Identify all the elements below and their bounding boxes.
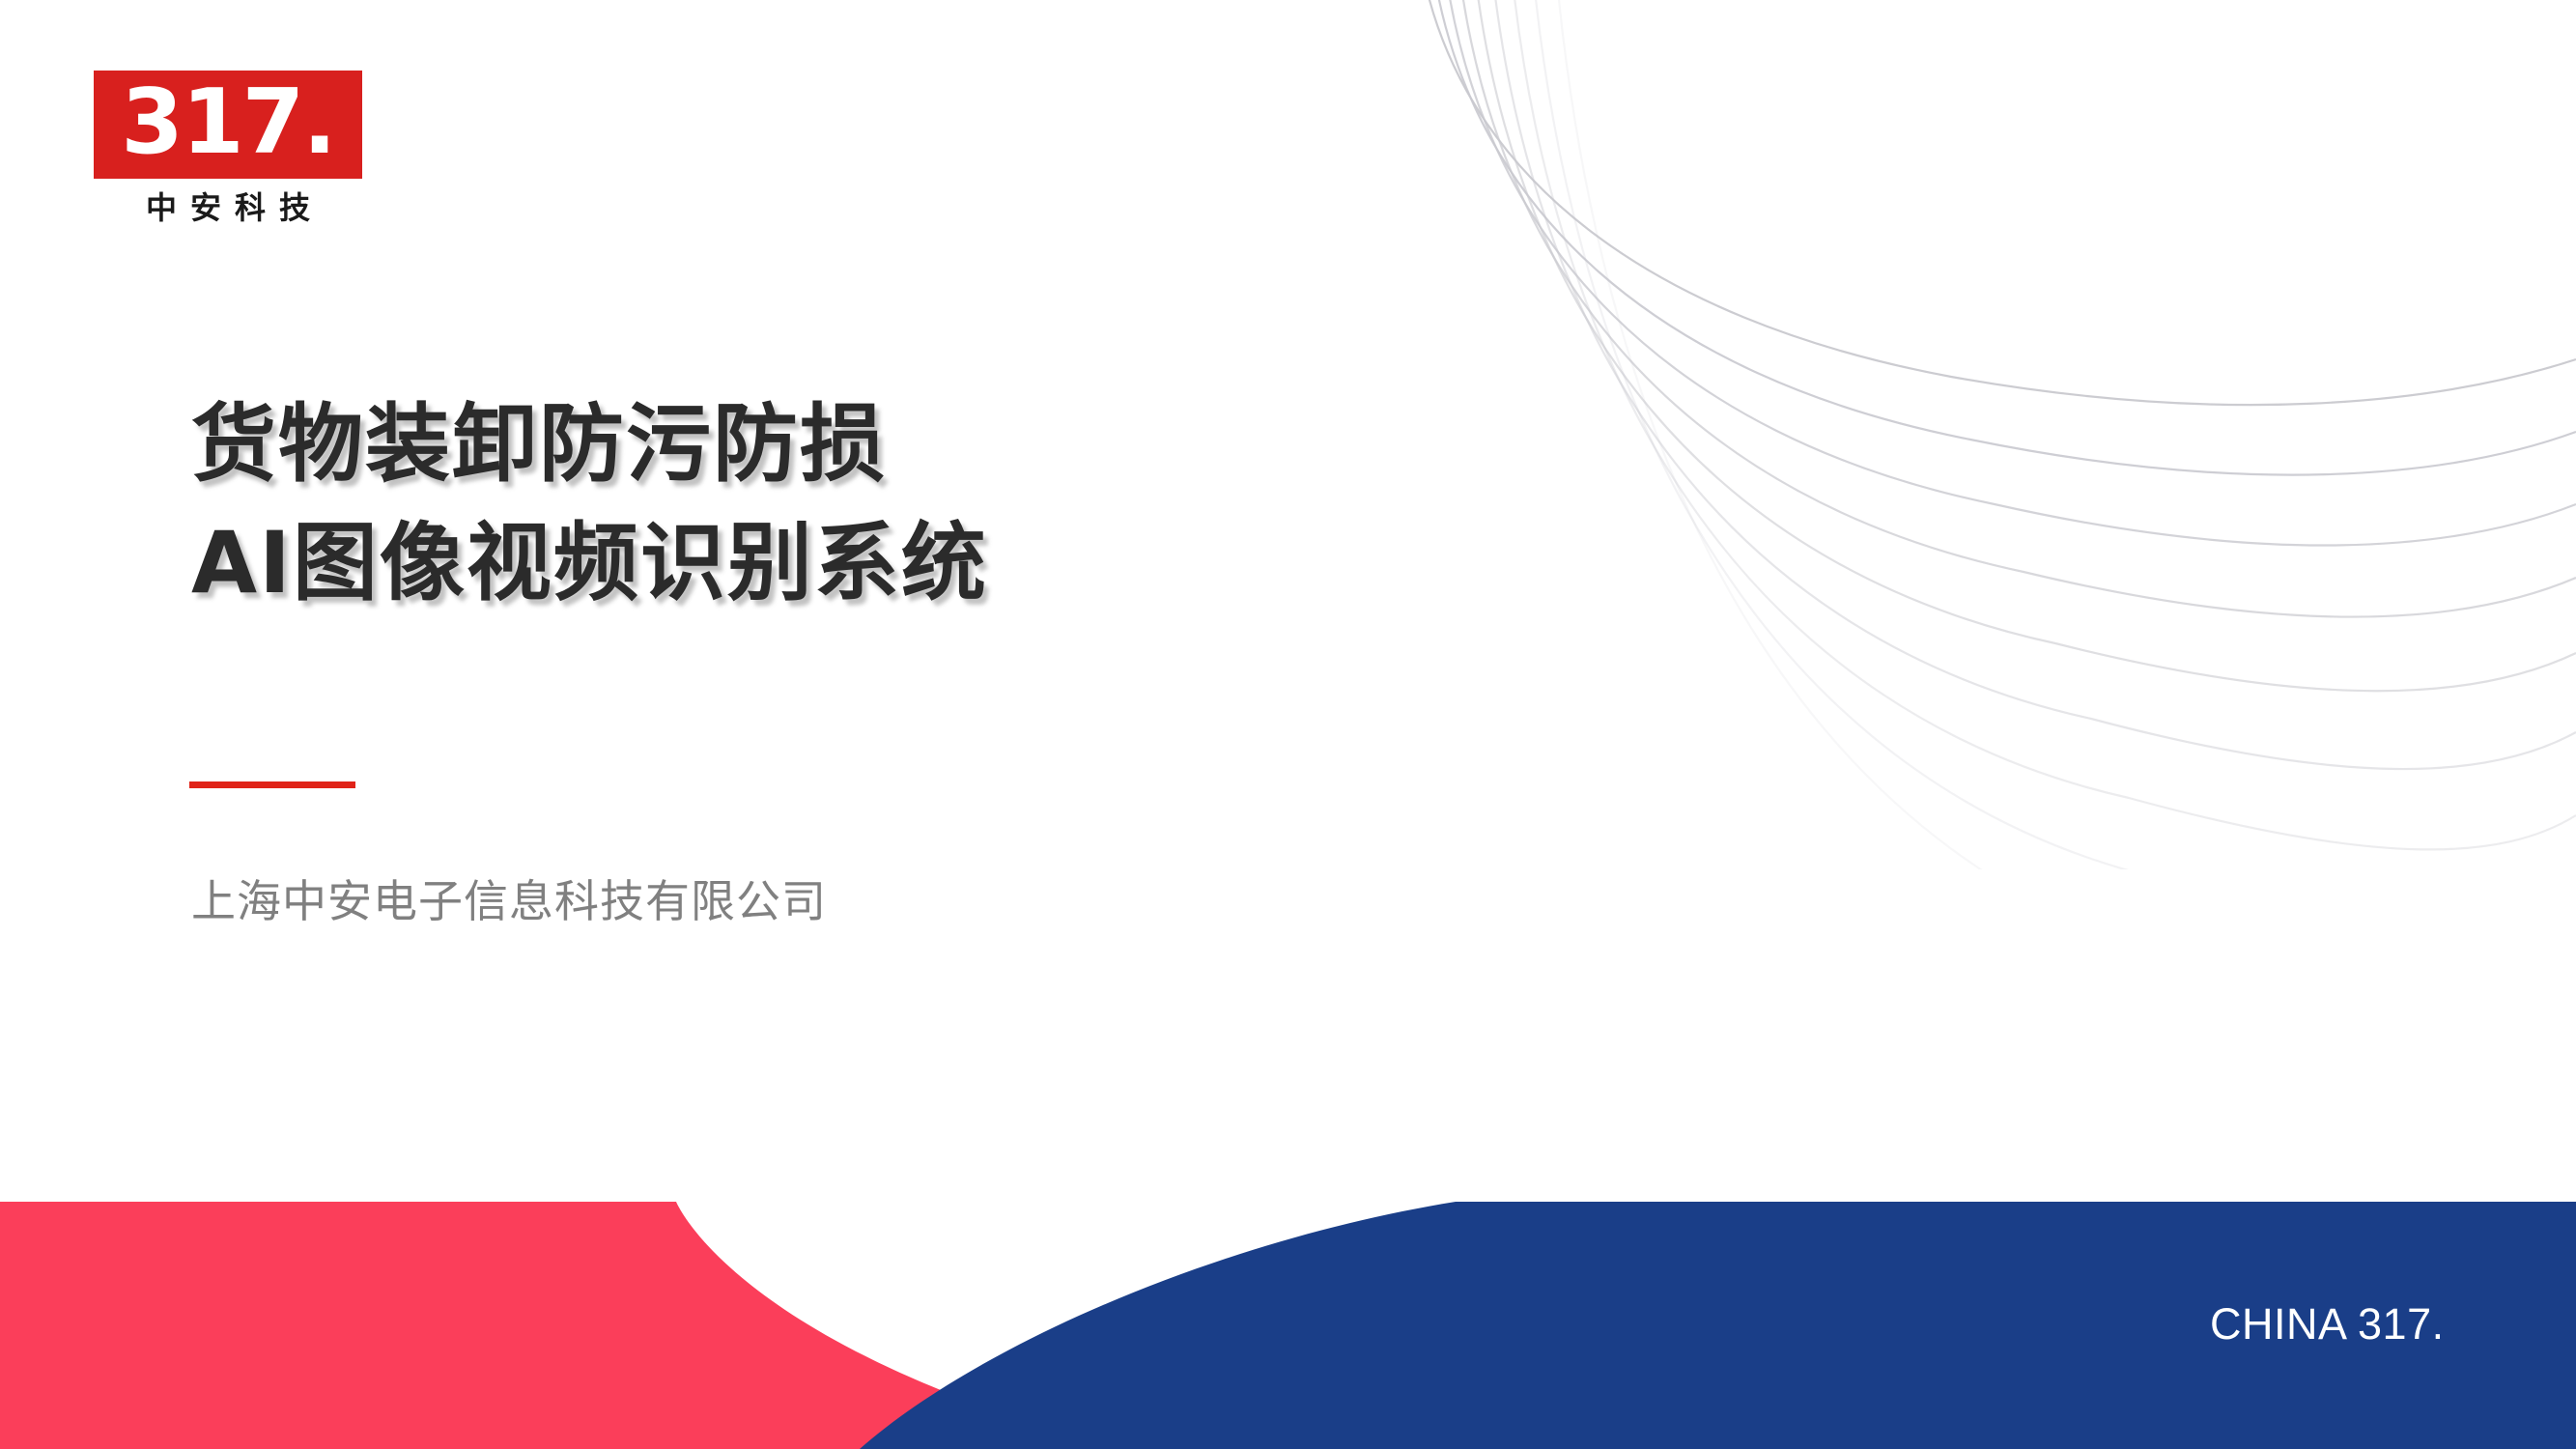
logo-subtext-zhongan: 中安科技 <box>94 192 362 223</box>
logo-mark-317: 317. <box>94 71 362 179</box>
footer-brand-label: CHINA 317. <box>2210 1302 2445 1346</box>
logo-mark-text: 317. <box>121 77 334 167</box>
footer-banner-shapes <box>0 1202 2576 1449</box>
swoosh-decoration-icon <box>1352 0 2576 869</box>
company-name-subtitle: 上海中安电子信息科技有限公司 <box>191 879 827 923</box>
page-title-line-2: AI图像视频识别系统 <box>191 503 1447 622</box>
title-divider-rule <box>189 781 355 788</box>
footer-banner: CHINA 317. <box>0 1202 2576 1449</box>
page-title: 货物装卸防污防损 AI图像视频识别系统 <box>191 384 1447 622</box>
page-title-line-1: 货物装卸防污防损 <box>191 384 1447 503</box>
company-logo: 317. 中安科技 <box>94 71 364 223</box>
title-slide: 317. 中安科技 货物装卸防污防损 AI图像视频识别系统 上海中安电子信息科技… <box>0 0 2576 1449</box>
